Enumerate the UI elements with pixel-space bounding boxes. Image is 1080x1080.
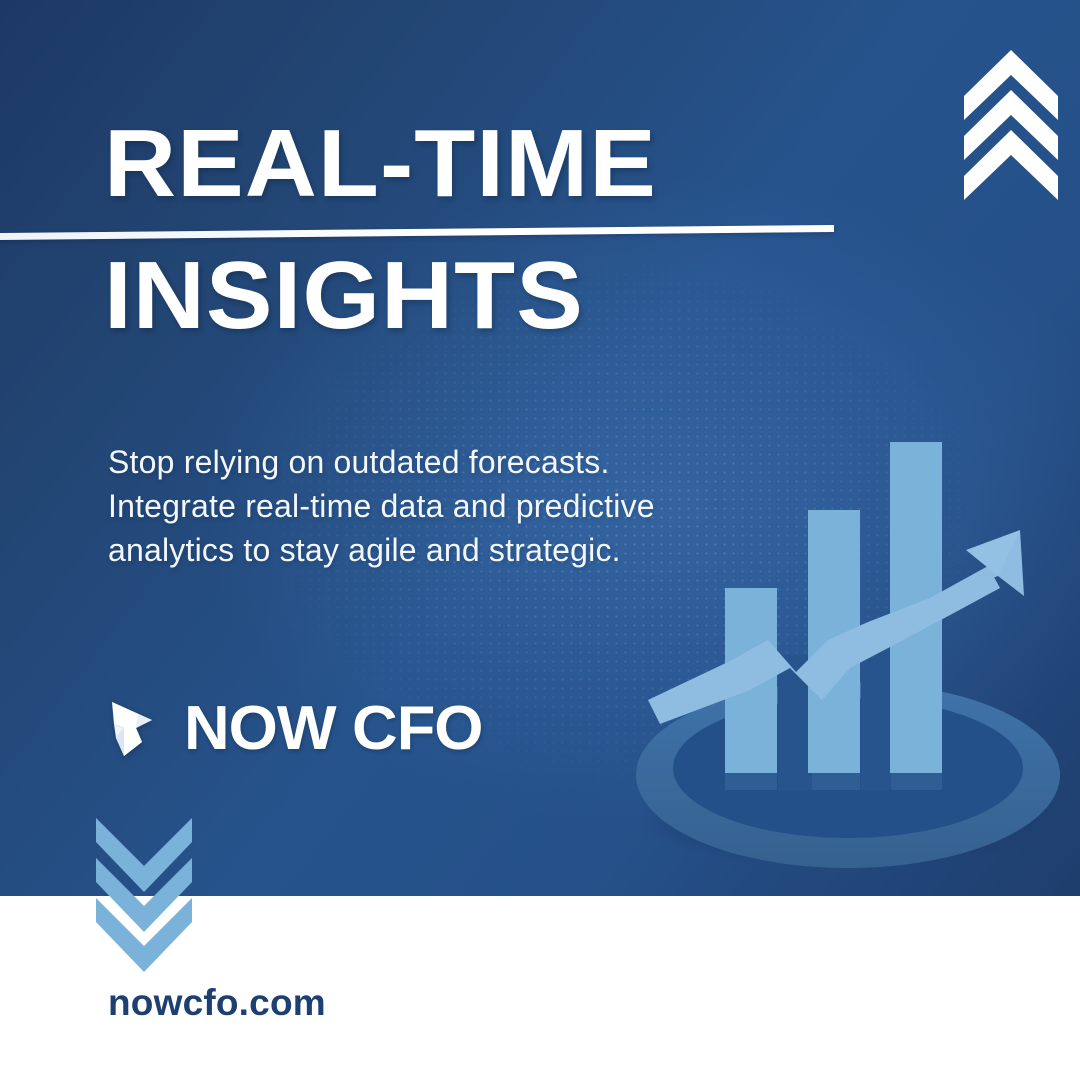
body-paragraph: Stop relying on outdated forecasts. Inte…	[108, 440, 668, 572]
chevron-up-triple-icon	[962, 44, 1060, 202]
title-divider	[0, 225, 834, 240]
chart-svg	[600, 400, 1080, 880]
website-url[interactable]: nowcfo.com	[108, 982, 326, 1024]
headline-block: REAL-TIME INSIGHTS	[0, 0, 1080, 380]
poster-canvas: REAL-TIME INSIGHTS Stop relying on outda…	[0, 0, 1080, 1080]
brand-name: NOW CFO	[184, 698, 482, 760]
bar-inner-shadow-2	[861, 650, 891, 790]
bar-chart-illustration	[600, 400, 1080, 880]
page-title-line-1: REAL-TIME	[104, 116, 657, 212]
chevron-down-triple-icon	[94, 812, 194, 972]
page-title-line-2: INSIGHTS	[104, 248, 584, 344]
now-cfo-arrow-icon	[108, 698, 168, 760]
brand-logo: NOW CFO	[108, 698, 477, 760]
